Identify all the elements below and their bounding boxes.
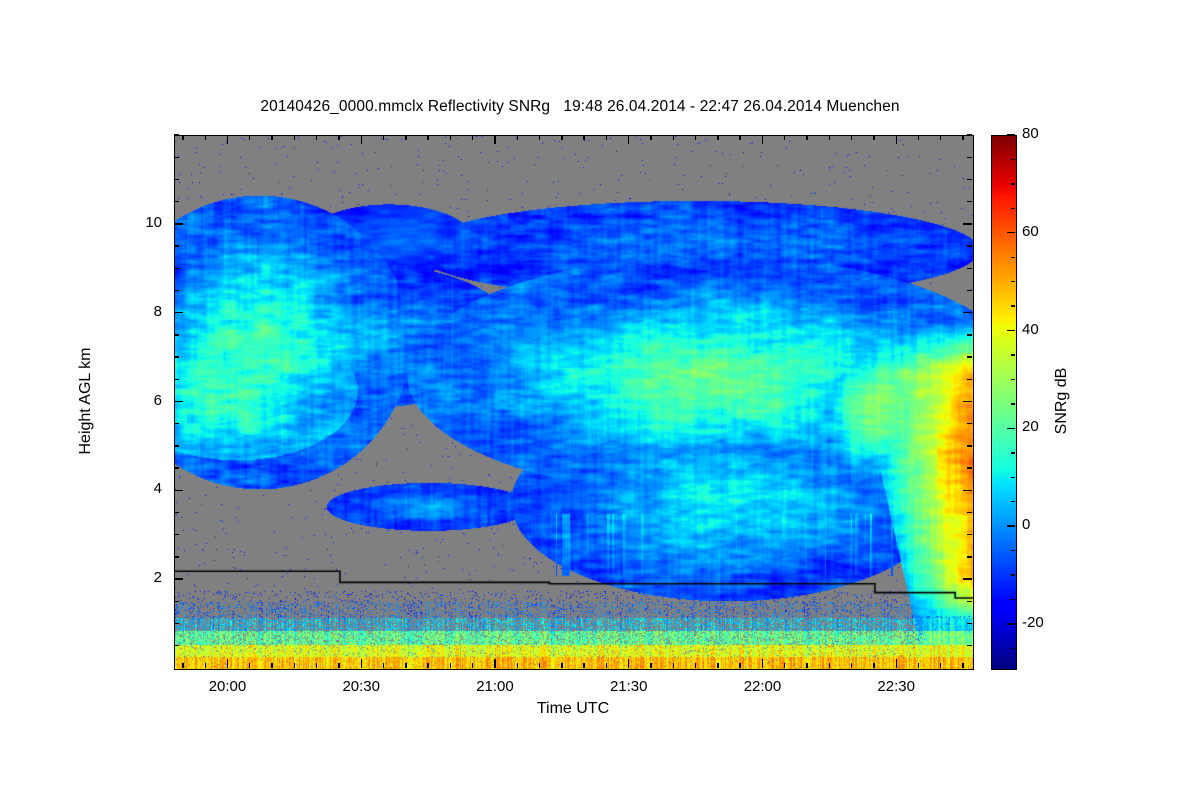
y-minor-tick	[174, 467, 179, 468]
y-minor-tick	[174, 601, 179, 602]
x-minor-tick	[583, 135, 584, 140]
x-minor-tick	[673, 135, 674, 140]
colorbar-minor-tick	[1011, 305, 1015, 306]
x-minor-tick	[561, 135, 562, 140]
colorbar-major-tick	[1007, 525, 1015, 526]
y-minor-tick	[967, 134, 972, 135]
colorbar-minor-tick	[1011, 281, 1015, 282]
y-minor-tick	[967, 356, 972, 357]
y-minor-tick	[174, 623, 179, 624]
x-minor-tick	[182, 135, 183, 140]
colorbar-minor-tick	[1011, 550, 1015, 551]
y-minor-tick	[967, 534, 972, 535]
colorbar-minor-tick	[1011, 379, 1015, 380]
colorbar-minor-tick	[1011, 477, 1015, 478]
colorbar-major-tick	[1007, 623, 1015, 624]
x-minor-tick	[271, 135, 272, 140]
x-minor-tick	[316, 135, 317, 140]
y-major-tick	[963, 312, 972, 313]
colorbar-minor-tick	[1011, 159, 1015, 160]
x-minor-tick	[739, 663, 740, 668]
y-major-tick	[963, 578, 972, 579]
x-minor-tick	[873, 135, 874, 140]
x-minor-tick	[472, 135, 473, 140]
x-major-tick	[361, 659, 362, 668]
y-minor-tick	[967, 201, 972, 202]
y-tick-label: 10	[102, 214, 162, 231]
y-minor-tick	[967, 157, 972, 158]
x-minor-tick	[338, 663, 339, 668]
x-minor-tick	[806, 663, 807, 668]
x-minor-tick	[383, 135, 384, 140]
y-minor-tick	[967, 467, 972, 468]
colorbar-minor-tick	[1011, 452, 1015, 453]
colorbar-major-tick	[1007, 330, 1015, 331]
y-minor-tick	[174, 534, 179, 535]
x-minor-tick	[450, 663, 451, 668]
x-minor-tick	[427, 663, 428, 668]
colorbar-minor-tick	[1011, 257, 1015, 258]
x-minor-tick	[940, 663, 941, 668]
y-tick-label: 8	[102, 303, 162, 320]
y-major-tick	[963, 401, 972, 402]
y-minor-tick	[174, 290, 179, 291]
y-minor-tick	[967, 556, 972, 557]
colorbar-minor-tick	[1011, 648, 1015, 649]
colorbar-major-tick	[1007, 428, 1015, 429]
x-minor-tick	[695, 663, 696, 668]
x-minor-tick	[294, 135, 295, 140]
y-minor-tick	[174, 179, 179, 180]
chart-title: 20140426_0000.mmclx Reflectivity SNRg 19…	[0, 98, 1160, 116]
x-major-tick	[896, 135, 897, 144]
x-minor-tick	[383, 663, 384, 668]
y-minor-tick	[174, 201, 179, 202]
x-minor-tick	[249, 135, 250, 140]
x-axis-title: Time UTC	[174, 700, 972, 718]
y-minor-tick	[967, 245, 972, 246]
y-major-tick	[963, 490, 972, 491]
y-minor-tick	[967, 179, 972, 180]
y-major-tick	[174, 223, 183, 224]
x-minor-tick	[249, 663, 250, 668]
x-tick-label: 21:30	[589, 678, 669, 695]
colorbar-major-tick	[1007, 232, 1015, 233]
y-minor-tick	[174, 134, 179, 135]
colorbar-tick-label: 40	[1022, 321, 1039, 338]
y-major-tick	[174, 312, 183, 313]
x-minor-tick	[539, 663, 540, 668]
colorbar-title: SNRg dB	[1053, 368, 1071, 435]
y-major-tick	[174, 578, 183, 579]
y-minor-tick	[967, 645, 972, 646]
y-minor-tick	[174, 423, 179, 424]
y-minor-tick	[174, 645, 179, 646]
x-minor-tick	[271, 663, 272, 668]
x-tick-label: 20:30	[321, 678, 401, 695]
x-minor-tick	[806, 135, 807, 140]
x-major-tick	[494, 659, 495, 668]
x-minor-tick	[851, 135, 852, 140]
x-minor-tick	[316, 663, 317, 668]
x-major-tick	[361, 135, 362, 144]
x-minor-tick	[873, 663, 874, 668]
x-minor-tick	[606, 135, 607, 140]
y-minor-tick	[174, 157, 179, 158]
x-major-tick	[494, 135, 495, 144]
x-minor-tick	[851, 663, 852, 668]
y-minor-tick	[174, 512, 179, 513]
y-minor-tick	[174, 556, 179, 557]
x-minor-tick	[517, 663, 518, 668]
colorbar-minor-tick	[1011, 354, 1015, 355]
x-major-tick	[896, 659, 897, 668]
y-tick-label: 2	[102, 569, 162, 586]
y-minor-tick	[967, 290, 972, 291]
x-minor-tick	[918, 135, 919, 140]
y-minor-tick	[174, 379, 179, 380]
x-minor-tick	[405, 135, 406, 140]
x-major-tick	[762, 659, 763, 668]
x-major-tick	[227, 659, 228, 668]
x-major-tick	[628, 659, 629, 668]
x-tick-label: 22:00	[722, 678, 802, 695]
y-tick-label: 4	[102, 480, 162, 497]
x-tick-label: 22:30	[856, 678, 936, 695]
x-major-tick	[762, 135, 763, 144]
x-minor-tick	[472, 663, 473, 668]
x-minor-tick	[962, 135, 963, 140]
x-minor-tick	[650, 663, 651, 668]
x-minor-tick	[940, 135, 941, 140]
y-minor-tick	[967, 334, 972, 335]
colorbar-minor-tick	[1011, 574, 1015, 575]
x-minor-tick	[784, 135, 785, 140]
x-minor-tick	[673, 663, 674, 668]
x-minor-tick	[829, 663, 830, 668]
x-tick-label: 20:00	[187, 678, 267, 695]
x-minor-tick	[583, 663, 584, 668]
x-minor-tick	[717, 135, 718, 140]
chart-figure: 20140426_0000.mmclx Reflectivity SNRg 19…	[0, 0, 1200, 800]
x-minor-tick	[918, 663, 919, 668]
colorbar-tick-label: 60	[1022, 223, 1039, 240]
x-minor-tick	[517, 135, 518, 140]
x-minor-tick	[182, 663, 183, 668]
colorbar-tick-label: 0	[1022, 516, 1030, 533]
x-major-tick	[628, 135, 629, 144]
y-minor-tick	[967, 268, 972, 269]
plot-area[interactable]	[174, 135, 974, 670]
x-minor-tick	[606, 663, 607, 668]
x-minor-tick	[450, 135, 451, 140]
x-major-tick	[227, 135, 228, 144]
x-tick-label: 21:00	[455, 678, 535, 695]
y-minor-tick	[967, 423, 972, 424]
y-axis-title: Height AGL km	[77, 347, 95, 454]
y-minor-tick	[967, 379, 972, 380]
x-minor-tick	[650, 135, 651, 140]
y-tick-label: 6	[102, 392, 162, 409]
colorbar-major-tick	[1007, 134, 1015, 135]
y-major-tick	[174, 490, 183, 491]
colorbar-tick-label: 20	[1022, 418, 1039, 435]
y-minor-tick	[174, 334, 179, 335]
colorbar-minor-tick	[1011, 183, 1015, 184]
x-minor-tick	[205, 663, 206, 668]
x-minor-tick	[695, 135, 696, 140]
y-minor-tick	[967, 512, 972, 513]
y-major-tick	[963, 223, 972, 224]
x-minor-tick	[405, 663, 406, 668]
x-minor-tick	[717, 663, 718, 668]
colorbar-tick-label: 80	[1022, 125, 1039, 142]
y-minor-tick	[174, 356, 179, 357]
colorbar-minor-tick	[1011, 501, 1015, 502]
x-minor-tick	[427, 135, 428, 140]
x-minor-tick	[784, 663, 785, 668]
x-minor-tick	[539, 135, 540, 140]
x-minor-tick	[829, 135, 830, 140]
y-minor-tick	[174, 445, 179, 446]
x-minor-tick	[205, 135, 206, 140]
x-minor-tick	[962, 663, 963, 668]
y-minor-tick	[174, 268, 179, 269]
y-minor-tick	[967, 445, 972, 446]
x-minor-tick	[739, 135, 740, 140]
y-minor-tick	[967, 623, 972, 624]
x-minor-tick	[338, 135, 339, 140]
colorbar-minor-tick	[1011, 403, 1015, 404]
reflectivity-heatmap	[175, 136, 973, 669]
colorbar-tick-label: -20	[1022, 614, 1044, 631]
colorbar-minor-tick	[1011, 599, 1015, 600]
y-minor-tick	[967, 601, 972, 602]
y-major-tick	[174, 401, 183, 402]
y-minor-tick	[174, 245, 179, 246]
x-minor-tick	[561, 663, 562, 668]
x-minor-tick	[294, 663, 295, 668]
colorbar-minor-tick	[1011, 208, 1015, 209]
